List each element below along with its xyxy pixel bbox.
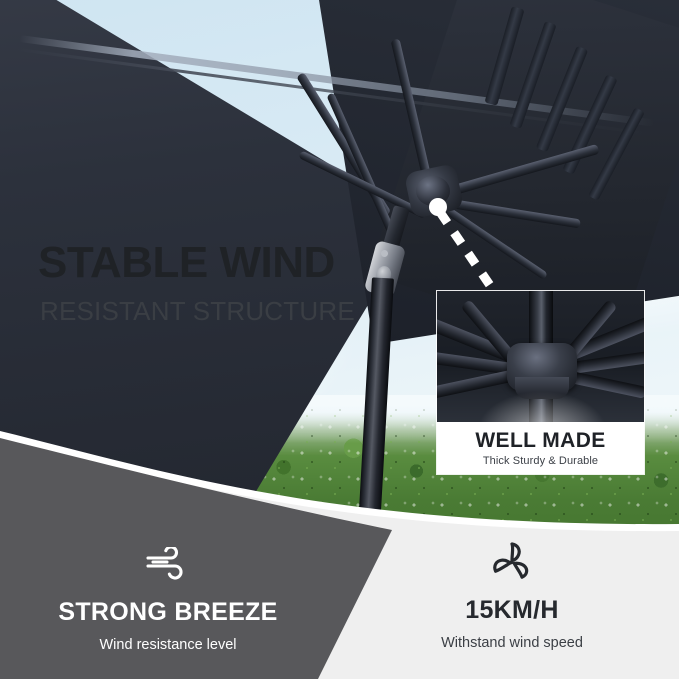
feature-title: STRONG BREEZE xyxy=(18,600,318,625)
wind-icon xyxy=(18,542,318,586)
feature-subtitle: Wind resistance level xyxy=(18,638,318,653)
feature-strong-breeze: STRONG BREEZE Wind resistance level xyxy=(18,542,318,653)
feature-subtitle: Withstand wind speed xyxy=(362,636,662,651)
fan-icon xyxy=(362,540,662,584)
product-banner: WELL MADE Thick Sturdy & Durable STABLE … xyxy=(0,0,679,679)
feature-title: 15KM/H xyxy=(362,598,662,623)
feature-wind-speed: 15KM/H Withstand wind speed xyxy=(362,540,662,651)
